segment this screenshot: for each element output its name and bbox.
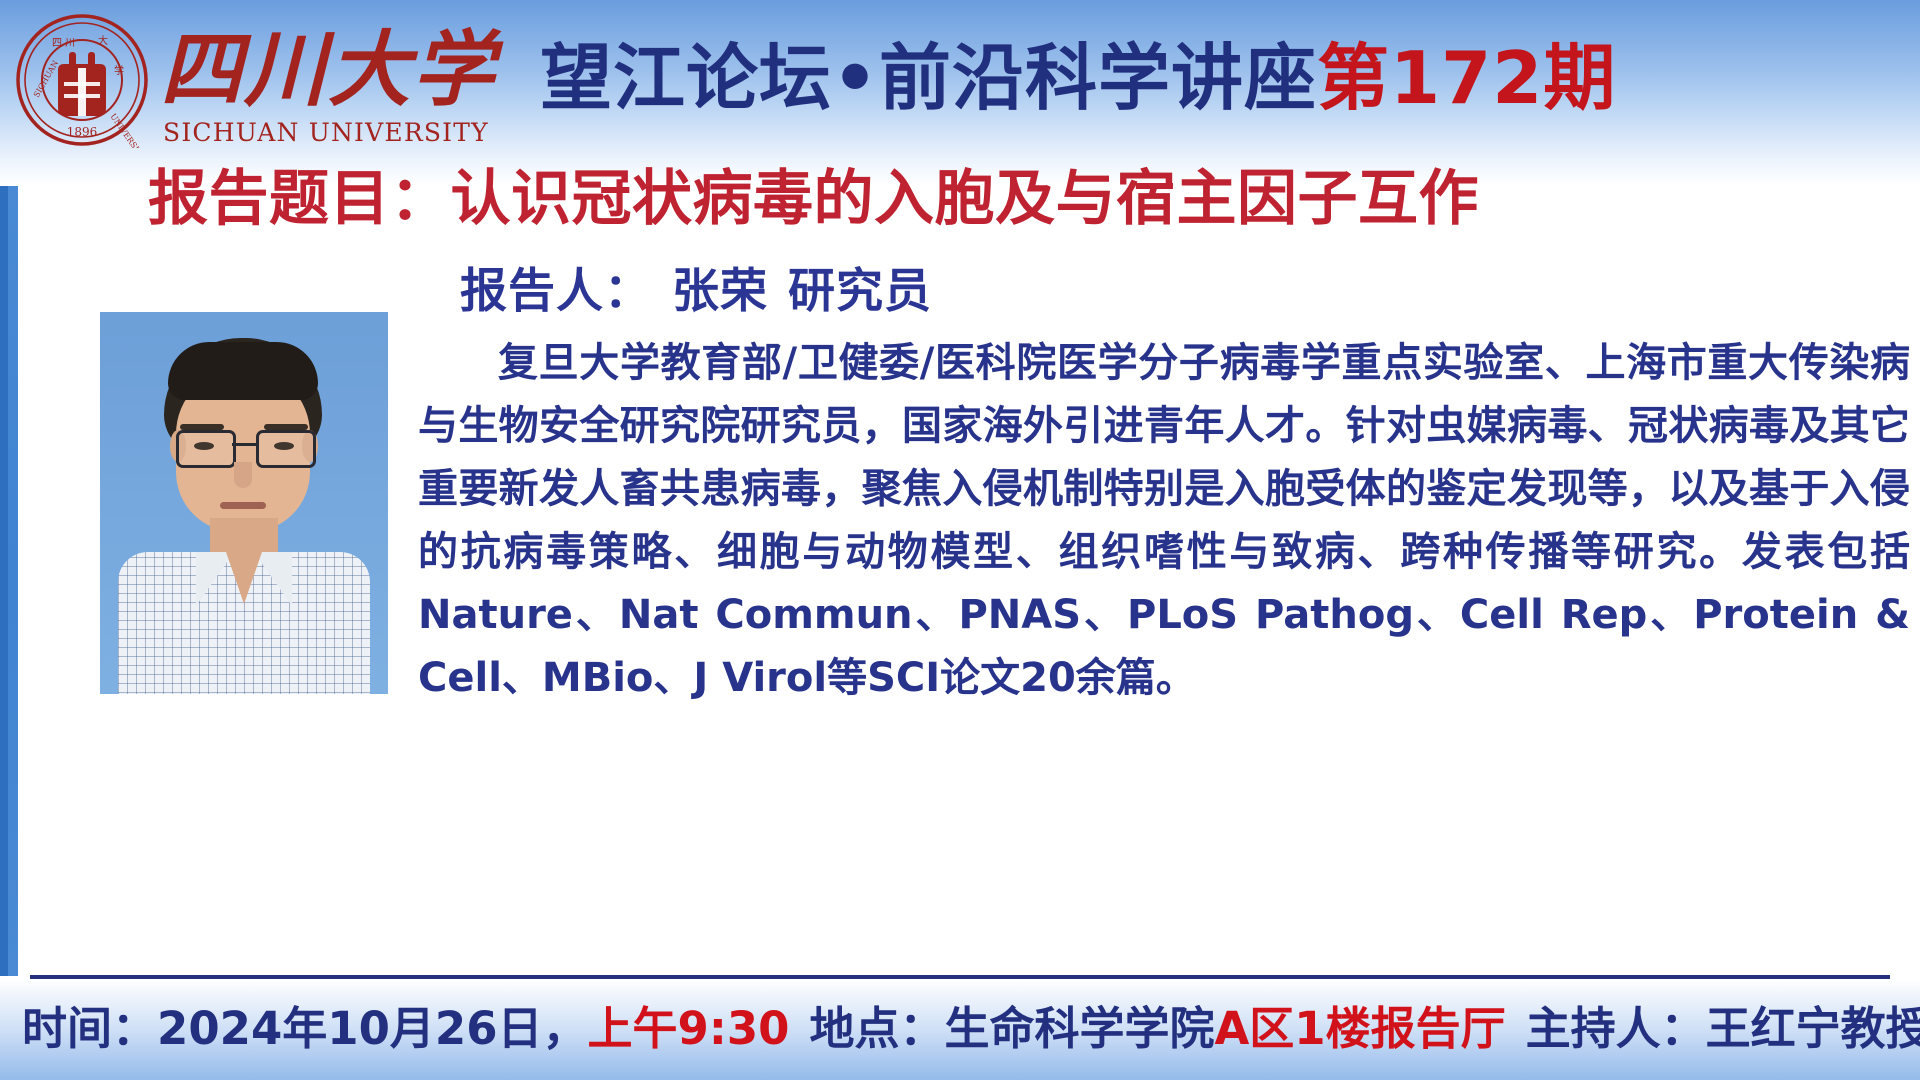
banner-title: 望江论坛•前沿科学讲座第172期	[540, 26, 1616, 130]
glasses-icon	[174, 430, 314, 464]
svg-text:UNIVERSITY: UNIVERSITY	[108, 112, 147, 148]
issue-number: 第172期	[1317, 36, 1616, 120]
place-label: 地点：	[809, 1002, 944, 1055]
speaker-label: 报告人：	[460, 264, 652, 319]
event-time: 上午9:30	[588, 1002, 790, 1055]
lecture-title: 报告题目：认识冠状病毒的入胞及与宿主因子互作	[148, 160, 1908, 238]
place-main: 生命科学学院	[944, 1002, 1214, 1055]
speaker-name: 张荣	[672, 264, 768, 319]
lecture-poster: 1896 SICHUAN UNIVERSITY 四 川 大 学 四川大学 SIC…	[0, 0, 1920, 1080]
left-accent-strip-inner	[0, 186, 8, 976]
svg-text:大: 大	[98, 34, 108, 47]
svg-text:SICHUAN: SICHUAN	[32, 59, 60, 99]
host-name: 王红宁教授	[1706, 1002, 1920, 1055]
university-wordmark-cn: 四川大学	[160, 18, 470, 123]
lecture-title-label: 报告题目：	[148, 164, 451, 234]
speaker-line: 报告人：张荣研究员	[460, 258, 932, 326]
svg-text:四 川: 四 川	[52, 38, 75, 49]
place-room: A区1楼报告厅	[1214, 1002, 1505, 1055]
series-title: 望江论坛•前沿科学讲座	[540, 36, 1317, 120]
footer-details: 时间：2024年10月26日，上午9:30地点：生命科学学院A区1楼报告厅主持人…	[22, 996, 1920, 1062]
speaker-bio: 复旦大学教育部/卫健委/医科院医学分子病毒学重点实验室、上海市重大传染病与生物安…	[418, 332, 1910, 710]
time-label: 时间：	[22, 1002, 157, 1055]
svg-text:1896: 1896	[67, 125, 98, 139]
speaker-portrait	[100, 312, 388, 694]
host-label: 主持人：	[1526, 1002, 1706, 1055]
event-date: 2024年10月26日，	[157, 1002, 588, 1055]
lecture-title-text: 认识冠状病毒的入胞及与宿主因子互作	[451, 164, 1480, 234]
speaker-rank: 研究员	[788, 264, 932, 319]
sichuan-university-emblem-icon: 1896 SICHUAN UNIVERSITY 四 川 大 学	[14, 12, 150, 148]
svg-text:学: 学	[114, 64, 124, 77]
university-wordmark-en: SICHUAN UNIVERSITY	[163, 118, 489, 147]
